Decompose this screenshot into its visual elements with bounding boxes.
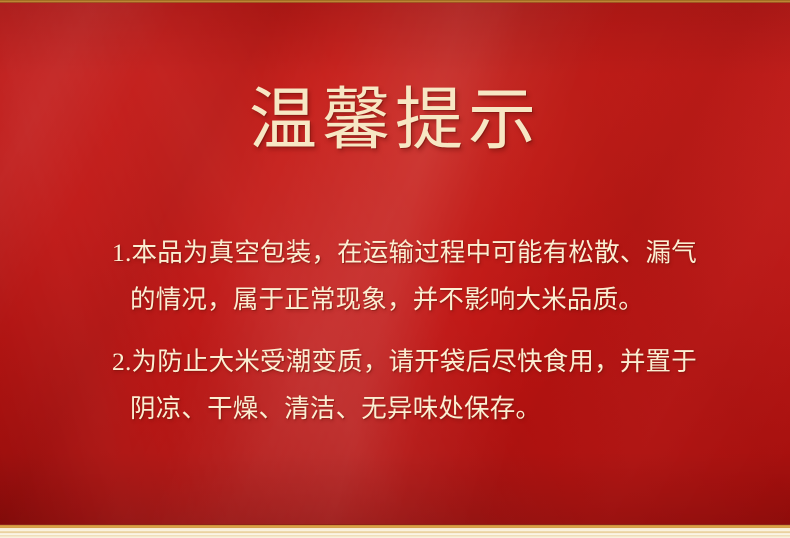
bottom-gold-band [0, 524, 790, 538]
page-title: 温馨提示 [0, 86, 790, 154]
top-gold-rule [0, 0, 790, 3]
note-item-1: 1.本品为真空包装，在运输过程中可能有松散、漏气的情况，属于正常现象，并不影响大… [112, 229, 700, 323]
promo-banner: 温馨提示 1.本品为真空包装，在运输过程中可能有松散、漏气的情况，属于正常现象，… [0, 0, 790, 538]
notes-list: 1.本品为真空包装，在运输过程中可能有松散、漏气的情况，属于正常现象，并不影响大… [112, 229, 700, 432]
note-item-2: 2.为防止大米受潮变质，请开袋后尽快食用，并置于阴凉、干燥、清洁、无异味处保存。 [112, 338, 700, 432]
